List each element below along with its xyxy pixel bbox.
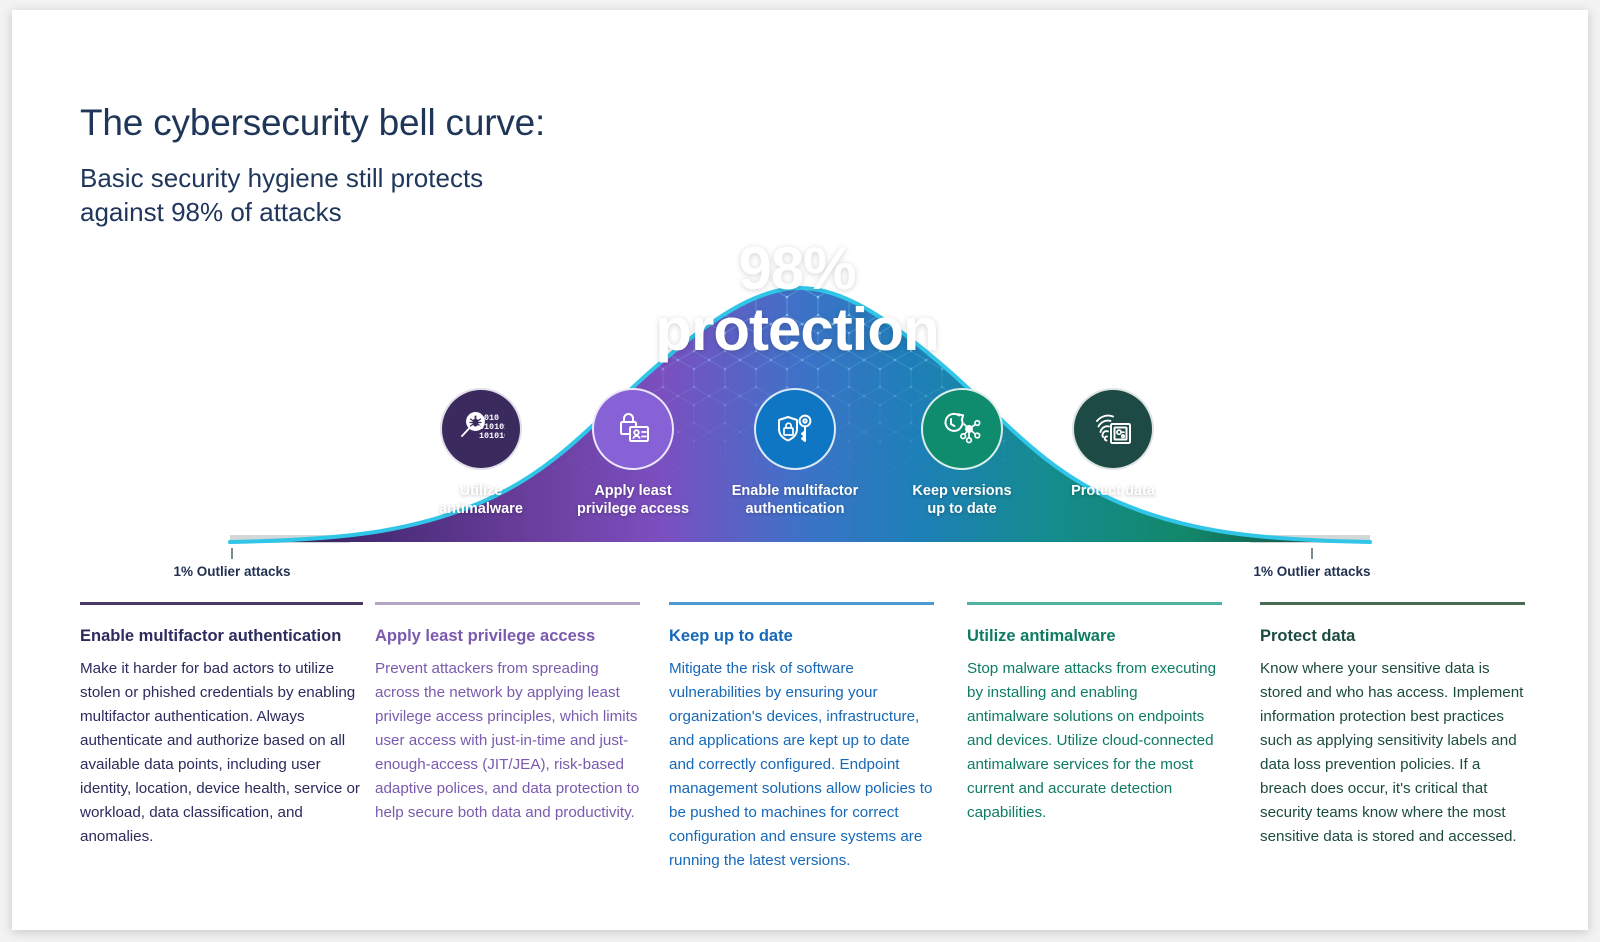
magnifier-bug-binary-icon: 010 010101 101010 [457, 405, 505, 453]
bell-curve-graphic: 98% protection [12, 180, 1588, 580]
fingerprint-safe-icon [1089, 405, 1137, 453]
column-body-1: Make it harder for bad actors to utilize… [80, 657, 363, 849]
pillar-circle-4 [921, 388, 1003, 470]
column-heading-3: Keep up to date [669, 627, 934, 647]
outlier-right: 1% Outlier attacks [1212, 548, 1412, 579]
column-rule-2 [375, 602, 640, 605]
protection-stat-label: protection [632, 299, 962, 360]
outlier-left-label: 1% Outlier attacks [132, 564, 332, 579]
detail-column-4: Utilize antimalware Stop malware attacks… [967, 602, 1222, 825]
column-rule-1 [80, 602, 363, 605]
column-body-3: Mitigate the risk of software vulnerabil… [669, 657, 934, 873]
pillar-circle-1: 010 010101 101010 [440, 388, 522, 470]
pillar-label-5: Protect data [1018, 482, 1208, 500]
protection-stat-value: 98% [632, 238, 962, 299]
column-body-2: Prevent attackers from spreading across … [375, 657, 640, 825]
shield-lock-key-icon [771, 405, 819, 453]
detail-column-3: Keep up to date Mitigate the risk of sof… [669, 602, 934, 873]
infographic-card: The cybersecurity bell curve: Basic secu… [12, 10, 1588, 930]
padlock-id-card-icon [609, 405, 657, 453]
pillar-circle-3 [754, 388, 836, 470]
detail-column-5: Protect data Know where your sensitive d… [1260, 602, 1525, 849]
pillar-circle-2 [592, 388, 674, 470]
column-heading-2: Apply least privilege access [375, 627, 640, 647]
column-rule-5 [1260, 602, 1525, 605]
outlier-left-tick [231, 548, 233, 559]
pillar-protect-data[interactable]: Protect data [1018, 388, 1208, 500]
column-heading-1: Enable multifactor authentication [80, 627, 363, 647]
pillar-label-3: Enable multifactorauthentication [700, 482, 890, 518]
detail-column-1: Enable multifactor authentication Make i… [80, 602, 363, 849]
detail-columns: Enable multifactor authentication Make i… [12, 602, 1588, 902]
outlier-right-tick [1311, 548, 1313, 559]
outlier-left: 1% Outlier attacks [132, 548, 332, 579]
column-rule-4 [967, 602, 1222, 605]
column-heading-5: Protect data [1260, 627, 1525, 647]
pillar-enable-multifactor-authentication[interactable]: Enable multifactorauthentication [700, 388, 890, 518]
svg-text:101010: 101010 [479, 431, 505, 441]
column-body-5: Know where your sensitive data is stored… [1260, 657, 1525, 849]
protection-stat: 98% protection [632, 238, 962, 360]
column-heading-4: Utilize antimalware [967, 627, 1222, 647]
column-rule-3 [669, 602, 934, 605]
column-body-4: Stop malware attacks from executing by i… [967, 657, 1222, 825]
detail-column-2: Apply least privilege access Prevent att… [375, 602, 640, 825]
pillar-group: 010 010101 101010 Utilizeantimalware [12, 388, 1588, 538]
page-title: The cybersecurity bell curve: [80, 102, 780, 145]
clock-refresh-network-icon [938, 405, 986, 453]
pillar-circle-5 [1072, 388, 1154, 470]
outlier-right-label: 1% Outlier attacks [1212, 564, 1412, 579]
